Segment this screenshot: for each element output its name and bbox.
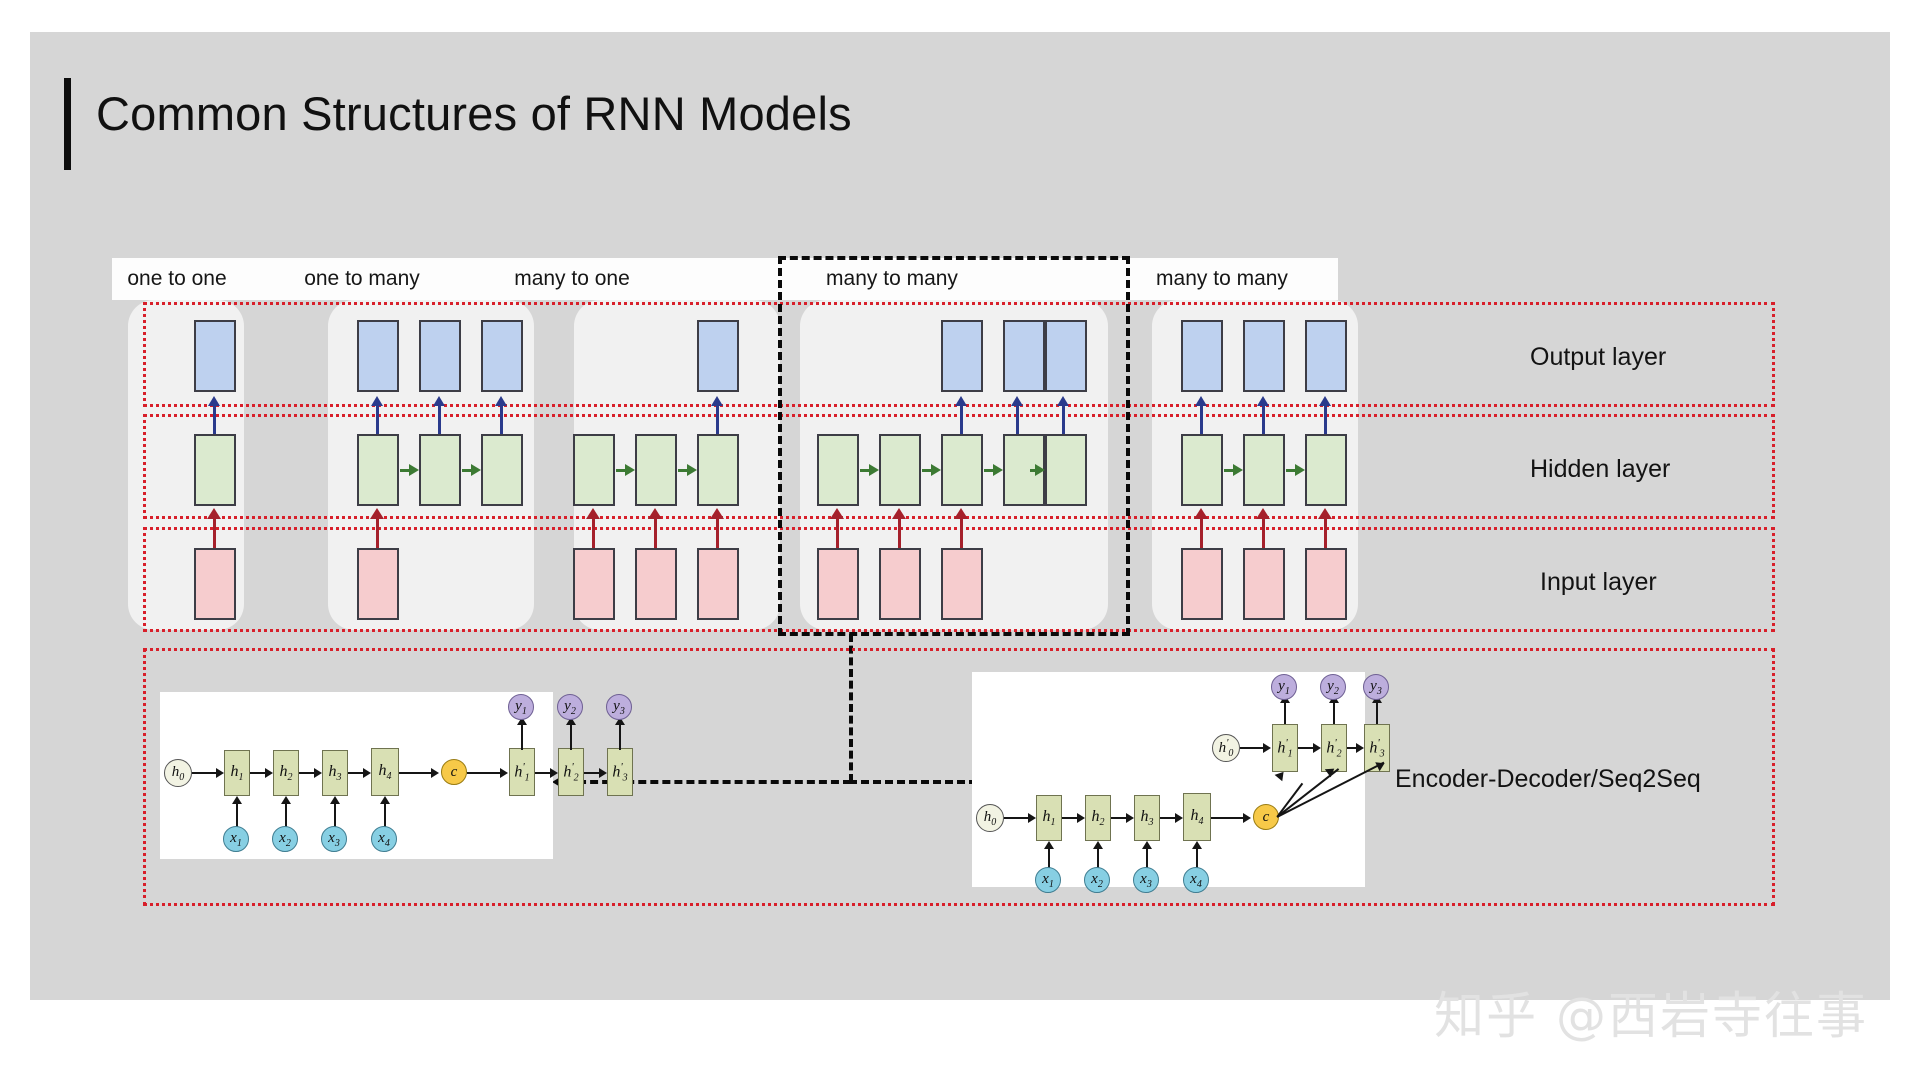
edge-arrow-icon xyxy=(1044,841,1054,849)
edge xyxy=(348,772,364,774)
input-arrow-head-icon xyxy=(370,508,384,519)
input-arrow-head-icon xyxy=(586,508,600,519)
hidden-unit xyxy=(573,434,615,506)
output-node-label: y1 xyxy=(1278,678,1290,697)
encoder-init-node: h0 xyxy=(164,759,192,787)
edge xyxy=(285,802,287,827)
output-node: y3 xyxy=(606,694,632,720)
edge xyxy=(584,772,600,774)
edge-arrow-icon xyxy=(216,768,224,778)
hidden-unit xyxy=(1181,434,1223,506)
output-node: y3 xyxy=(1363,674,1389,700)
edge xyxy=(1160,817,1176,819)
input-arrow xyxy=(1200,518,1203,548)
edge-arrow-icon xyxy=(281,796,291,804)
encoder-cell: h3 xyxy=(1134,795,1160,841)
hidden-unit xyxy=(481,434,523,506)
input-node-label: x2 xyxy=(279,830,291,849)
input-node-label: x1 xyxy=(1042,871,1054,890)
seq2seq-label: Encoder-Decoder/Seq2Seq xyxy=(1395,765,1701,794)
edge xyxy=(1097,846,1099,868)
input-node-label: x3 xyxy=(328,830,340,849)
edge xyxy=(1333,700,1335,724)
input-arrow xyxy=(654,518,657,548)
input-arrow xyxy=(376,518,379,548)
input-arrow xyxy=(1324,518,1327,548)
edge xyxy=(521,722,523,750)
input-node-label: x4 xyxy=(378,830,390,849)
edge xyxy=(384,802,386,827)
input-arrow-head-icon xyxy=(207,508,221,519)
input-node: x3 xyxy=(321,826,347,852)
input-unit xyxy=(635,548,677,620)
edge xyxy=(1062,817,1078,819)
hidden-unit xyxy=(419,434,461,506)
output-unit xyxy=(1305,320,1347,392)
edge xyxy=(1298,747,1314,749)
column-caption-many-to-many-sync: many to many xyxy=(1122,267,1322,291)
output-unit xyxy=(357,320,399,392)
output-arrow xyxy=(1200,404,1203,434)
output-arrow xyxy=(500,404,503,434)
encoder-init-node: h0 xyxy=(976,804,1004,832)
output-arrow-head-icon xyxy=(711,396,723,406)
decoder-cell-label: h'2 xyxy=(1326,737,1341,760)
input-arrow xyxy=(716,518,719,548)
edge xyxy=(535,772,551,774)
context-vector-node: c xyxy=(441,759,467,785)
input-node: x2 xyxy=(1084,867,1110,893)
edge xyxy=(1211,817,1244,819)
edge xyxy=(1284,700,1286,724)
edge xyxy=(334,802,336,827)
output-arrow-head-icon xyxy=(1257,396,1269,406)
encoder-cell-label: h4 xyxy=(379,762,392,782)
decoder-cell-label: h'3 xyxy=(1369,737,1384,760)
seq2seq-left-figure: h0 h1 h2 h3 h4 c h'1 h'2 h'3 y1 y2 y3 x1… xyxy=(160,692,553,859)
input-node: x4 xyxy=(1183,867,1209,893)
encoder-cell-label: h2 xyxy=(280,763,293,783)
edge-arrow-icon xyxy=(1028,813,1036,823)
edge-arrow-icon xyxy=(599,768,607,778)
edge xyxy=(1240,747,1264,749)
edge-arrow-icon xyxy=(550,768,558,778)
edge xyxy=(250,772,266,774)
encoder-cell: h1 xyxy=(224,750,250,796)
encoder-cell: h3 xyxy=(322,750,348,796)
output-node-label: y3 xyxy=(613,698,625,717)
output-node: y2 xyxy=(1320,674,1346,700)
output-node-label: y1 xyxy=(515,698,527,717)
output-node: y1 xyxy=(508,694,534,720)
output-arrow xyxy=(1324,404,1327,434)
hidden-unit xyxy=(697,434,739,506)
hidden-layer-label: Hidden layer xyxy=(1530,455,1670,484)
input-arrow xyxy=(1262,518,1265,548)
output-node-label: y2 xyxy=(1327,678,1339,697)
edge-arrow-icon xyxy=(1356,743,1364,753)
decoder-cell: h'1 xyxy=(1272,724,1298,772)
seq2seq-highlight-box xyxy=(778,256,1130,636)
edge xyxy=(1376,700,1378,724)
output-arrow xyxy=(716,404,719,434)
output-unit xyxy=(419,320,461,392)
input-arrow-head-icon xyxy=(648,508,662,519)
decoder-init-node: h'0 xyxy=(1212,734,1240,762)
edge-arrow-icon xyxy=(232,796,242,804)
encoder-init-label: h0 xyxy=(172,764,185,783)
output-arrow xyxy=(376,404,379,434)
decoder-init-label: h'0 xyxy=(1219,737,1234,759)
input-arrow-head-icon xyxy=(1318,508,1332,519)
edge-arrow-icon xyxy=(1243,813,1251,823)
input-unit xyxy=(1181,548,1223,620)
edge-arrow-icon xyxy=(314,768,322,778)
edge-arrow-icon xyxy=(1313,743,1321,753)
column-caption-one-to-one: one to one xyxy=(112,267,242,291)
edge-arrow-icon xyxy=(1093,841,1103,849)
output-arrow-head-icon xyxy=(371,396,383,406)
edge xyxy=(299,772,315,774)
edge-arrow-icon xyxy=(1126,813,1134,823)
encoder-cell-label: h3 xyxy=(329,763,342,783)
output-arrow xyxy=(213,404,216,434)
edge xyxy=(619,722,621,750)
output-arrow-head-icon xyxy=(1195,396,1207,406)
edge xyxy=(399,772,432,774)
output-node-label: y2 xyxy=(564,698,576,717)
edge-arrow-icon xyxy=(380,796,390,804)
recurrent-arrow-head-icon xyxy=(625,464,635,476)
encoder-cell: h4 xyxy=(371,748,399,796)
edge-arrow-icon xyxy=(1142,841,1152,849)
edge xyxy=(1196,846,1198,868)
context-vector-node: c xyxy=(1253,804,1279,830)
encoder-cell-label: h2 xyxy=(1092,808,1105,828)
encoder-cell: h4 xyxy=(1183,793,1211,841)
edge xyxy=(1146,846,1148,868)
input-node: x1 xyxy=(1035,867,1061,893)
edge-arrow-icon xyxy=(363,768,371,778)
decoder-cell-label: h'1 xyxy=(1277,737,1292,760)
input-node: x2 xyxy=(272,826,298,852)
input-unit xyxy=(194,548,236,620)
edge xyxy=(1048,846,1050,868)
recurrent-arrow-head-icon xyxy=(471,464,481,476)
input-arrow-head-icon xyxy=(1256,508,1270,519)
input-unit xyxy=(1305,548,1347,620)
context-vector-label: c xyxy=(1263,809,1270,826)
edge-arrow-icon xyxy=(1077,813,1085,823)
decoder-cell: h'3 xyxy=(607,748,633,796)
context-vector-label: c xyxy=(451,764,458,781)
output-node: y2 xyxy=(557,694,583,720)
title-accent-bar xyxy=(64,78,71,170)
input-node-label: x2 xyxy=(1091,871,1103,890)
output-arrow-head-icon xyxy=(1319,396,1331,406)
input-node: x3 xyxy=(1133,867,1159,893)
edge-arrow-icon xyxy=(431,768,439,778)
edge xyxy=(236,802,238,827)
input-unit xyxy=(697,548,739,620)
encoder-cell: h2 xyxy=(273,750,299,796)
edge-arrow-icon xyxy=(265,768,273,778)
output-node: y1 xyxy=(1271,674,1297,700)
input-arrow xyxy=(592,518,595,548)
input-unit xyxy=(573,548,615,620)
input-unit xyxy=(1243,548,1285,620)
hidden-unit xyxy=(635,434,677,506)
edge-arrow-icon xyxy=(500,768,508,778)
edge xyxy=(1004,817,1029,819)
decoder-cell-label: h'1 xyxy=(514,761,529,784)
input-arrow-head-icon xyxy=(1194,508,1208,519)
output-layer-label: Output layer xyxy=(1530,343,1666,372)
output-node-label: y3 xyxy=(1370,678,1382,697)
decoder-cell-label: h'2 xyxy=(563,761,578,784)
output-arrow-head-icon xyxy=(208,396,220,406)
encoder-cell: h2 xyxy=(1085,795,1111,841)
hidden-unit xyxy=(1243,434,1285,506)
edge xyxy=(192,772,217,774)
recurrent-arrow-head-icon xyxy=(1233,464,1243,476)
output-arrow-head-icon xyxy=(495,396,507,406)
output-unit xyxy=(697,320,739,392)
output-arrow-head-icon xyxy=(433,396,445,406)
edge-arrow-icon xyxy=(1263,743,1271,753)
decoder-cell: h'2 xyxy=(1321,724,1347,772)
edge xyxy=(1111,817,1127,819)
input-arrow xyxy=(213,518,216,548)
edge-arrow-icon xyxy=(1192,841,1202,849)
decoder-cell: h'2 xyxy=(558,748,584,796)
encoder-cell: h1 xyxy=(1036,795,1062,841)
edge xyxy=(467,772,501,774)
watermark: 知乎 @西岩寺往事 xyxy=(1434,976,1868,1048)
recurrent-arrow-head-icon xyxy=(1295,464,1305,476)
input-node: x4 xyxy=(371,826,397,852)
input-node-label: x3 xyxy=(1140,871,1152,890)
input-node-label: x1 xyxy=(230,830,242,849)
edge-arrow-icon xyxy=(330,796,340,804)
hidden-unit xyxy=(194,434,236,506)
recurrent-arrow-head-icon xyxy=(409,464,419,476)
column-caption-one-to-many: one to many xyxy=(272,267,452,291)
output-unit xyxy=(1181,320,1223,392)
encoder-cell-label: h1 xyxy=(231,763,244,783)
output-arrow xyxy=(438,404,441,434)
recurrent-arrow-head-icon xyxy=(687,464,697,476)
encoder-cell-label: h1 xyxy=(1043,808,1056,828)
column-caption-many-to-one: many to one xyxy=(482,267,662,291)
hidden-unit xyxy=(1305,434,1347,506)
encoder-cell-label: h4 xyxy=(1191,807,1204,827)
input-node-label: x4 xyxy=(1190,871,1202,890)
output-unit xyxy=(481,320,523,392)
input-layer-label: Input layer xyxy=(1540,568,1657,597)
input-arrow-head-icon xyxy=(710,508,724,519)
input-unit xyxy=(357,548,399,620)
decoder-cell: h'1 xyxy=(509,748,535,796)
hidden-unit xyxy=(357,434,399,506)
decoder-cell-label: h'3 xyxy=(612,761,627,784)
encoder-cell-label: h3 xyxy=(1141,808,1154,828)
seq2seq-right-figure: h'0 h'1 h'2 h'3 y1 y2 y3 h0 h1 h2 h3 h4 … xyxy=(972,672,1365,887)
column-caption-strip: one to one one to many many to one many … xyxy=(112,258,1338,300)
edge-arrow-icon xyxy=(1175,813,1183,823)
input-node: x1 xyxy=(223,826,249,852)
output-unit xyxy=(194,320,236,392)
encoder-init-label: h0 xyxy=(984,809,997,828)
page-title: Common Structures of RNN Models xyxy=(96,86,852,141)
edge xyxy=(570,722,572,750)
output-unit xyxy=(1243,320,1285,392)
output-arrow xyxy=(1262,404,1265,434)
